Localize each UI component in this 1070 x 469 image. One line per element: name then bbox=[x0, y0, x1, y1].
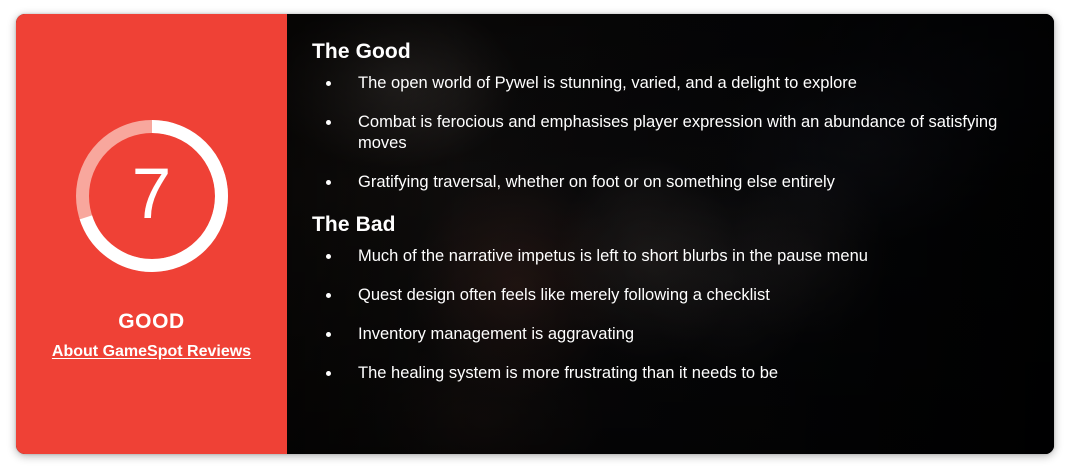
bullet-dot-icon bbox=[326, 81, 331, 86]
score-verdict-label: GOOD bbox=[16, 310, 287, 334]
bullet-dot-icon bbox=[326, 120, 331, 125]
review-point: The healing system is more frustrating t… bbox=[312, 363, 1024, 384]
score-panel: 7 GOOD About GameSpot Reviews bbox=[16, 14, 287, 454]
score-dial: 7 bbox=[76, 120, 228, 272]
the-good-list: The open world of Pywel is stunning, var… bbox=[312, 73, 1024, 193]
about-gamespot-reviews-link[interactable]: About GameSpot Reviews bbox=[16, 343, 287, 361]
review-verdict-card: 7 GOOD About GameSpot Reviews The Good T… bbox=[16, 14, 1054, 454]
score-value: 7 bbox=[76, 120, 228, 272]
review-points-panel: The Good The open world of Pywel is stun… bbox=[287, 14, 1054, 454]
review-point-text: Quest design often feels like merely fol… bbox=[358, 286, 770, 304]
the-bad-list: Much of the narrative impetus is left to… bbox=[312, 246, 1024, 384]
bullet-dot-icon bbox=[326, 371, 331, 376]
review-point: Quest design often feels like merely fol… bbox=[312, 285, 1024, 306]
review-point-text: Inventory management is aggravating bbox=[358, 325, 634, 343]
review-point-text: The open world of Pywel is stunning, var… bbox=[358, 74, 857, 92]
review-point-text: Gratifying traversal, whether on foot or… bbox=[358, 173, 835, 191]
review-point: Inventory management is aggravating bbox=[312, 324, 1024, 345]
review-point: Much of the narrative impetus is left to… bbox=[312, 246, 1024, 267]
review-point: The open world of Pywel is stunning, var… bbox=[312, 73, 1024, 94]
review-point: Gratifying traversal, whether on foot or… bbox=[312, 172, 1024, 193]
the-bad-heading: The Bad bbox=[312, 213, 1024, 237]
review-point-text: Much of the narrative impetus is left to… bbox=[358, 247, 868, 265]
review-point: Combat is ferocious and emphasises playe… bbox=[312, 112, 1024, 154]
review-point-text: The healing system is more frustrating t… bbox=[358, 364, 778, 382]
bullet-dot-icon bbox=[326, 293, 331, 298]
review-point-text: Combat is ferocious and emphasises playe… bbox=[358, 113, 997, 152]
bullet-dot-icon bbox=[326, 332, 331, 337]
bullet-dot-icon bbox=[326, 180, 331, 185]
bullet-dot-icon bbox=[326, 254, 331, 259]
the-good-heading: The Good bbox=[312, 40, 1024, 64]
